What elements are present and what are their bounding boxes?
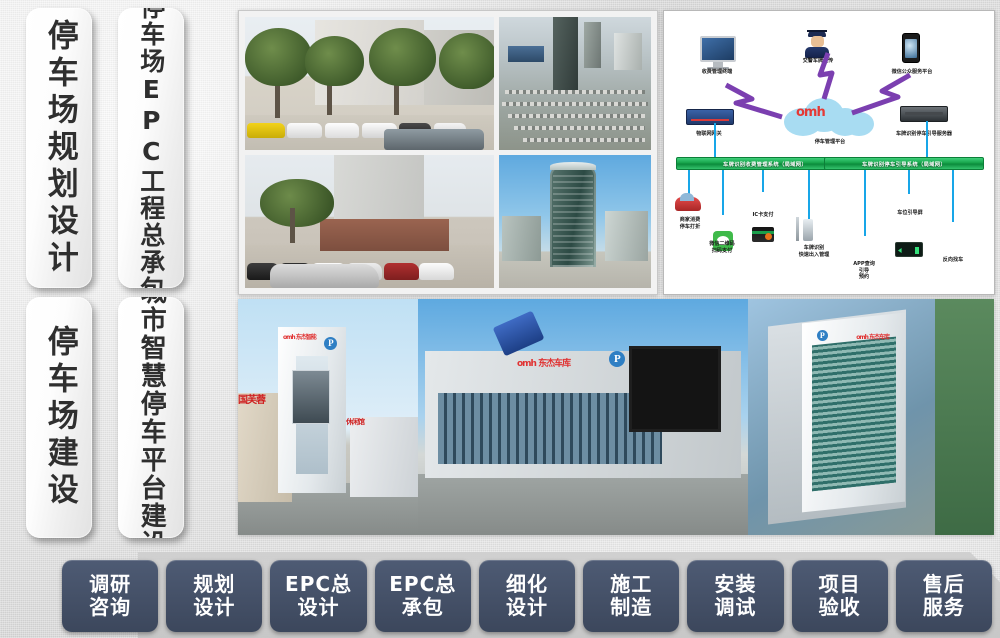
process-step-epc-general-contract[interactable]: EPC总 承包: [375, 560, 471, 632]
sidebar-card-epc-general-contracting[interactable]: 停车场EPC工程总承包: [118, 8, 184, 288]
bolt-connector-left: [722, 81, 792, 121]
charge-management-terminal-icon: [700, 36, 736, 69]
process-step-research-consulting[interactable]: 调研 咨询: [62, 560, 158, 632]
render-aerial-tower-garage: omh 东杰车库 P: [748, 299, 994, 535]
link-server-to-guidance-system: [926, 121, 928, 157]
ic-card-icon: [752, 227, 774, 242]
wechat-public-platform-phone-icon: [902, 33, 920, 63]
sidebar-card-parking-construction[interactable]: 停车场建设: [26, 297, 92, 538]
sidebar-card-planning-design[interactable]: 停车场规划设计: [26, 8, 92, 288]
parking-mark-icon-3: P: [817, 330, 828, 341]
process-step-installation-commissioning[interactable]: 安装 调试: [687, 560, 783, 632]
photo-glass-office-tower: [499, 155, 651, 288]
sidebar-card-label: 停车场EPC工程总承包: [138, 8, 164, 288]
sidebar-card-label: 停车场建设: [43, 325, 75, 510]
plate-recognition-gate-icon: [796, 217, 813, 241]
process-step-planning-design[interactable]: 规划 设计: [166, 560, 262, 632]
diagram-label-wechat-qr-pay: 微信二维码 扫码支付: [692, 241, 752, 254]
diagram-label-guidance-screen: 车位引导屏: [882, 210, 938, 217]
merchant-discount-car-icon: [675, 197, 701, 211]
photo-collage-panel: [238, 10, 658, 295]
diagram-label-reverse-car-finding: 反向找车: [928, 257, 978, 264]
photo-lot-with-brick-building: [245, 155, 494, 288]
render-sign-2: 休闲馆: [346, 417, 364, 427]
bolt-connector-right: [846, 73, 916, 117]
diagram-label-fast-entry-exit: 车牌识别 快速出入管理: [780, 245, 848, 258]
process-step-project-acceptance[interactable]: 项目 验收: [792, 560, 888, 632]
process-step-detailed-design[interactable]: 细化 设计: [479, 560, 575, 632]
process-step-construction-manufacture[interactable]: 施工 制造: [583, 560, 679, 632]
bolt-connector-top: [814, 51, 842, 101]
diagram-label-charge-terminal: 收费管理终端: [676, 69, 758, 76]
render-sign-1: 国芙蓉: [238, 391, 265, 406]
link-gateway-to-charge-system: [714, 123, 716, 157]
sidebar-card-label: 城市智慧停车平台建设: [138, 297, 165, 538]
diagram-label-guidance-server: 车牌识别停车引导服务器: [872, 131, 976, 138]
render-podium-garage: omh 东杰车库 P: [418, 299, 748, 535]
sidebar-card-label: 停车场规划设计: [43, 19, 75, 278]
render-logo-omh-3: omh 东杰车库: [856, 332, 889, 341]
architectural-render-strip: omh 东杰智能 P 国芙蓉 休闲馆 omh 东杰车库 P omh 东杰车库 P: [238, 299, 994, 535]
photo-aerial-parking-lot: [499, 17, 651, 150]
system-bar-parking-guidance: 车牌识别停车引导系统（局域网）: [824, 157, 984, 170]
diagram-label-app-query: APP查询 引导 预约: [840, 261, 888, 281]
render-logo-omh-2: omh 东杰车库: [517, 356, 570, 369]
diagram-label-ic-card-pay: IC卡支付: [740, 212, 786, 219]
diagram-label-iot-gateway: 物联网网关: [674, 131, 744, 138]
photo-street-parking-lot: [245, 17, 494, 150]
space-guidance-screen-icon: [895, 242, 923, 257]
diagram-label-merchant-discount: 商家消费 停车打折: [663, 217, 718, 230]
process-step-list: 调研 咨询 规划 设计 EPC总 设计 EPC总 承包 细化 设计 施工 制造 …: [62, 560, 992, 632]
process-step-after-sales-service[interactable]: 售后 服务: [896, 560, 992, 632]
diagram-label-platform: 停车管理平台: [784, 139, 876, 146]
omh-brand-text: omh: [796, 105, 825, 120]
render-logo-omh: omh 东杰智能: [283, 332, 316, 341]
render-tower-garage: omh 东杰智能 P 国芙蓉 休闲馆: [238, 299, 418, 535]
process-step-epc-general-design[interactable]: EPC总 设计: [270, 560, 366, 632]
sidebar-card-smart-parking-platform[interactable]: 城市智慧停车平台建设: [118, 297, 184, 538]
system-architecture-diagram: omh 停车管理平台 收费管理终端 交警车牌上传 微信公众服务平台 物联网网关 …: [663, 10, 995, 295]
